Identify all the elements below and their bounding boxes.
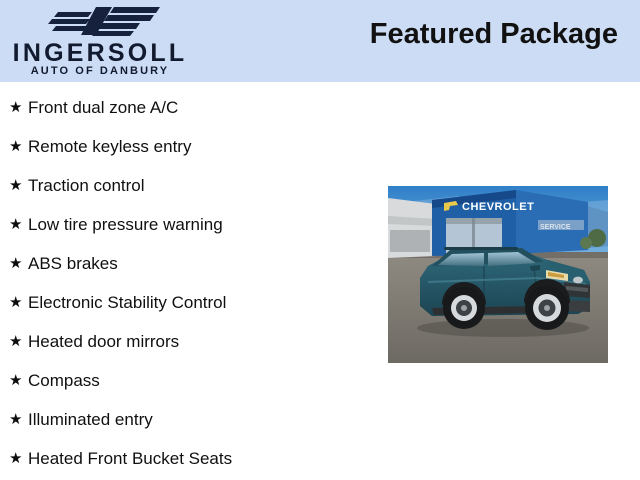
feature-label: Heated door mirrors	[28, 332, 380, 352]
feature-label: Heated Front Bucket Seats	[28, 449, 380, 469]
feature-label: Illuminated entry	[28, 410, 380, 430]
star-bullet-icon: ★	[9, 217, 28, 232]
star-bullet-icon: ★	[9, 178, 28, 193]
feature-label: Low tire pressure warning	[28, 215, 380, 235]
star-bullet-icon: ★	[9, 139, 28, 154]
list-item: ★ ABS brakes	[0, 244, 380, 283]
star-bullet-icon: ★	[9, 100, 28, 115]
star-bullet-icon: ★	[9, 334, 28, 349]
feature-list: ★ Front dual zone A/C ★ Remote keyless e…	[0, 88, 380, 478]
feature-label: Remote keyless entry	[28, 137, 380, 157]
star-bullet-icon: ★	[9, 451, 28, 466]
list-item: ★ Low tire pressure warning	[0, 205, 380, 244]
star-bullet-icon: ★	[9, 412, 28, 427]
ingersoll-wing-emblem-icon	[48, 4, 164, 38]
list-item: ★ Traction control	[0, 166, 380, 205]
list-item: ★ Heated Front Bucket Seats	[0, 439, 380, 478]
star-bullet-icon: ★	[9, 256, 28, 271]
feature-label: Traction control	[28, 176, 380, 196]
svg-text:SERVICE: SERVICE	[540, 224, 571, 231]
list-item: ★ Electronic Stability Control	[0, 283, 380, 322]
brand-subtitle: AUTO OF DANBURY	[0, 65, 200, 78]
feature-label: ABS brakes	[28, 254, 380, 274]
list-item: ★ Front dual zone A/C	[0, 88, 380, 127]
header-bar: INGERSOLL AUTO OF DANBURY Featured Packa…	[0, 0, 640, 82]
vehicle-photo: CHEVROLET SERVICE	[388, 186, 608, 363]
feature-label: Compass	[28, 371, 380, 391]
brand-name: INGERSOLL	[0, 40, 200, 66]
svg-text:CHEVROLET: CHEVROLET	[462, 201, 534, 213]
feature-label: Front dual zone A/C	[28, 98, 380, 118]
list-item: ★ Remote keyless entry	[0, 127, 380, 166]
feature-label: Electronic Stability Control	[28, 293, 380, 313]
list-item: ★ Illuminated entry	[0, 400, 380, 439]
list-item: ★ Heated door mirrors	[0, 322, 380, 361]
slide: INGERSOLL AUTO OF DANBURY Featured Packa…	[0, 0, 640, 480]
dealer-logo: INGERSOLL AUTO OF DANBURY	[0, 0, 200, 82]
star-bullet-icon: ★	[9, 295, 28, 310]
page-title: Featured Package	[370, 18, 618, 51]
star-bullet-icon: ★	[9, 373, 28, 388]
list-item: ★ Compass	[0, 361, 380, 400]
